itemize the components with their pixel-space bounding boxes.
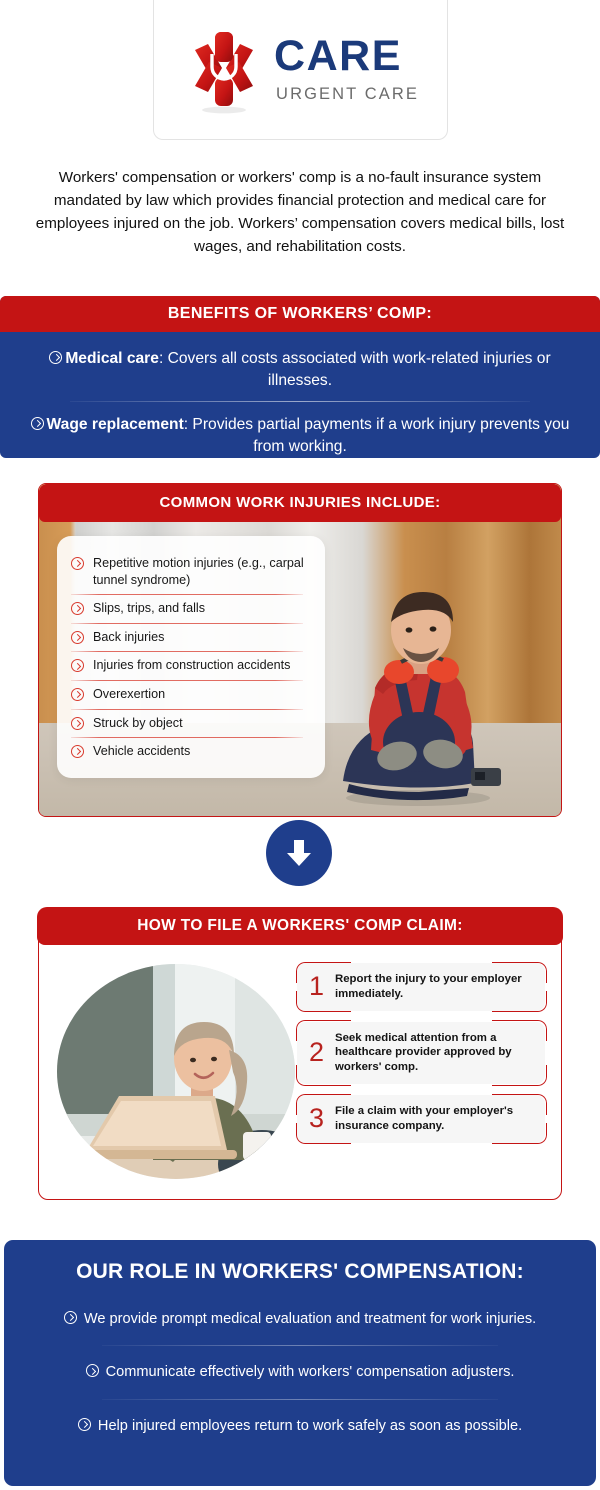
list-item-label: Injuries from construction accidents (93, 657, 290, 674)
benefits-title: BENEFITS OF WORKERS’ COMP: (0, 296, 600, 332)
role-item-label: We provide prompt medical evaluation and… (84, 1311, 536, 1327)
steps-list: 1 Report the injury to your employer imm… (297, 963, 545, 1143)
our-role-title: OUR ROLE IN WORKERS' COMPENSATION: (44, 1260, 556, 1284)
brand-name: CARE (274, 35, 402, 78)
benefits-body: Medical care: Covers all costs associate… (0, 332, 600, 458)
role-item: Communicate effectively with workers' co… (44, 1359, 556, 1385)
injured-worker-illustration (323, 576, 513, 806)
list-item: Vehicle accidents (69, 738, 309, 766)
divider (102, 1345, 498, 1346)
divider (70, 401, 530, 402)
divider (102, 1399, 498, 1400)
woman-laptop-photo (57, 964, 295, 1179)
chevron-circle-icon (71, 688, 84, 701)
injuries-list: Repetitive motion injuries (e.g., carpal… (57, 536, 325, 778)
brand-tagline: URGENT CARE (276, 85, 419, 104)
step-text: Seek medical attention from a healthcare… (335, 1031, 534, 1075)
common-injuries-section: COMMON WORK INJURIES INCLUDE: Repetitive… (38, 483, 562, 817)
how-to-file-section: HOW TO FILE A WORKERS' COMP CLAIM: (38, 908, 562, 1200)
list-item-label: Slips, trips, and falls (93, 600, 205, 617)
step-number: 3 (307, 1105, 326, 1132)
chevron-circle-icon (86, 1364, 99, 1377)
list-item: Struck by object (69, 710, 309, 738)
chevron-circle-icon (49, 351, 62, 364)
logo-card: CARE URGENT CARE (153, 0, 448, 140)
chevron-circle-icon (64, 1311, 77, 1324)
chevron-circle-icon (71, 631, 84, 644)
star-of-life-u-icon (182, 24, 266, 116)
step-item: 1 Report the injury to your employer imm… (297, 963, 545, 1011)
list-item: Repetitive motion injuries (e.g., carpal… (69, 550, 309, 594)
list-item-label: Repetitive motion injuries (e.g., carpal… (93, 555, 309, 588)
injuries-title: COMMON WORK INJURIES INCLUDE: (39, 484, 561, 522)
our-role-section: OUR ROLE IN WORKERS' COMPENSATION: We pr… (4, 1240, 596, 1486)
role-item: Help injured employees return to work sa… (44, 1413, 556, 1439)
chevron-circle-icon (71, 557, 84, 570)
benefit-rest: : Covers all costs associated with work-… (159, 350, 551, 389)
chevron-circle-icon (31, 417, 44, 430)
list-item: Back injuries (69, 624, 309, 652)
logo-wordmark: CARE URGENT CARE (274, 35, 419, 104)
step-text: File a claim with your employer's insura… (335, 1104, 534, 1134)
intro-paragraph: Workers' compensation or workers' comp i… (28, 166, 572, 258)
list-item: Overexertion (69, 681, 309, 709)
step-text: Report the injury to your employer immed… (335, 972, 534, 1002)
how-to-file-title: HOW TO FILE A WORKERS' COMP CLAIM: (37, 907, 562, 945)
list-item-label: Overexertion (93, 686, 165, 703)
list-item: Injuries from construction accidents (69, 652, 309, 680)
arrow-down-badge (266, 820, 332, 886)
list-item-label: Back injuries (93, 629, 164, 646)
step-number: 2 (307, 1039, 326, 1066)
benefit-lead: Medical care (65, 350, 159, 367)
step-item: 2 Seek medical attention from a healthca… (297, 1022, 545, 1084)
benefit-item: Wage replacement: Provides partial payme… (30, 408, 570, 458)
chevron-circle-icon (71, 602, 84, 615)
arrow-down-icon (284, 837, 314, 869)
chevron-circle-icon (71, 659, 84, 672)
role-item: We provide prompt medical evaluation and… (44, 1306, 556, 1332)
woman-laptop-illustration (57, 964, 295, 1179)
benefit-item: Medical care: Covers all costs associate… (30, 342, 570, 395)
chevron-circle-icon (78, 1418, 91, 1431)
chevron-circle-icon (71, 717, 84, 730)
list-item-label: Vehicle accidents (93, 743, 190, 760)
chevron-circle-icon (71, 745, 84, 758)
infographic-page: CARE URGENT CARE Workers' compensation o… (0, 0, 600, 1490)
step-number: 1 (307, 973, 326, 1000)
step-item: 3 File a claim with your employer's insu… (297, 1095, 545, 1143)
list-item-label: Struck by object (93, 715, 183, 732)
list-item: Slips, trips, and falls (69, 595, 309, 623)
role-item-label: Communicate effectively with workers' co… (106, 1364, 515, 1380)
benefit-rest: : Provides partial payments if a work in… (184, 416, 570, 455)
benefits-section: BENEFITS OF WORKERS’ COMP: Medical care:… (0, 296, 600, 458)
role-item-label: Help injured employees return to work sa… (98, 1418, 522, 1434)
benefit-lead: Wage replacement (47, 416, 184, 433)
